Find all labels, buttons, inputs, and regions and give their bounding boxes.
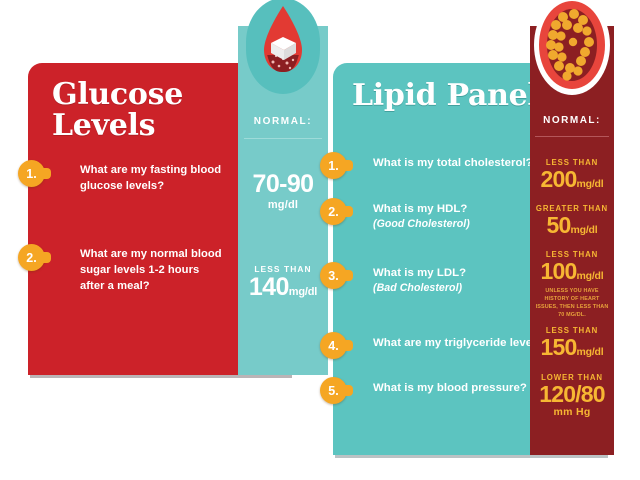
lipid-value-unit-4: mg/dl — [576, 346, 603, 358]
glucose-value-number-1: 70-90 — [238, 172, 328, 198]
artery-cholesterol-plaque-icon — [534, 0, 610, 95]
glucose-value-unit-1: mg/dl — [238, 199, 328, 211]
lipid-value-note-3: UNLESS YOU HAVE HISTORY OF HEART ISSUES,… — [530, 284, 614, 319]
lipid-question-badge-5: 5. — [320, 377, 347, 404]
lipid-question-main-5: What is my blood pressure? — [373, 382, 527, 394]
glucose-value-2: LESS THAN 140mg/dl — [238, 264, 328, 301]
lipid-question-main-3: What is my LDL? — [373, 267, 466, 279]
lipid-normal-label: NORMAL: — [530, 115, 614, 126]
glucose-question-list: 1. What are my fasting blood glucose lev… — [28, 163, 224, 331]
lipid-value-column: NORMAL: LESS THAN 200mg/dl GREATER THAN … — [530, 26, 614, 455]
glucose-divider — [244, 138, 322, 139]
lipid-value-number-3: 100 — [541, 258, 577, 284]
glucose-value-unit-2: mg/dl — [289, 286, 317, 298]
lipid-value-line-2: 50mg/dl — [530, 213, 614, 238]
glucose-question-row: 1. What are my fasting blood glucose lev… — [28, 163, 224, 217]
lipid-value-number-1: 200 — [541, 166, 577, 192]
glucose-question-text-2: What are my normal blood sugar levels 1-… — [80, 247, 222, 295]
lipid-value-line-1: 200mg/dl — [530, 167, 614, 192]
lipid-value-unit-3: mg/dl — [576, 270, 603, 282]
lipid-value-unit-1: mg/dl — [576, 178, 603, 190]
lipid-value-4: LESS THAN 150mg/dl — [530, 326, 614, 360]
lipid-value-1: LESS THAN 200mg/dl — [530, 158, 614, 192]
glucose-question-text-1: What are my fasting blood glucose levels… — [80, 163, 222, 195]
lipid-panel: Lipid Panel 1. What is my total choleste… — [333, 63, 606, 455]
lipid-value-qualifier-2: GREATER THAN — [530, 204, 614, 213]
lipid-value-number-2: 50 — [547, 212, 571, 238]
lipid-question-badge-2: 2. — [320, 198, 347, 225]
glucose-value-1: 70-90 mg/dl — [238, 172, 328, 211]
glucose-value-column: NORMAL: 70-90 mg/dl LESS THAN 140mg/dl — [238, 26, 328, 375]
lipid-value-2: GREATER THAN 50mg/dl — [530, 204, 614, 238]
lipid-value-line-3: 100mg/dl — [530, 259, 614, 284]
lipid-question-badge-1: 1. — [320, 152, 347, 179]
lipid-value-number-4: 150 — [541, 334, 577, 360]
glucose-value-number-2: 140 — [249, 273, 289, 301]
lipid-question-badge-3: 3. — [320, 262, 347, 289]
lipid-panel-title: Lipid Panel — [352, 81, 538, 112]
glucose-levels-panel: Glucose Levels 1. What are my fasting bl… — [28, 63, 290, 375]
glucose-value-line-2: 140mg/dl — [238, 275, 328, 301]
lipid-value-unit-5: mm Hg — [530, 406, 614, 418]
glucose-normal-label: NORMAL: — [238, 116, 328, 127]
lipid-value-unit-2: mg/dl — [570, 224, 597, 236]
glucose-question-badge-1: 1. — [18, 160, 45, 187]
lipid-value-line-4: 150mg/dl — [530, 335, 614, 360]
lipid-question-badge-4: 4. — [320, 332, 347, 359]
glucose-question-badge-2: 2. — [18, 244, 45, 271]
lipid-value-number-5: 120/80 — [530, 382, 614, 406]
lipid-question-main-4: What are my triglyceride levels? — [373, 337, 549, 349]
lipid-value-5: LOWER THAN 120/80 mm Hg — [530, 373, 614, 418]
lipid-value-3: LESS THAN 100mg/dl UNLESS YOU HAVE HISTO… — [530, 250, 614, 319]
lipid-question-main-1: What is my total cholesterol? — [373, 157, 533, 169]
lipid-question-main-2: What is my HDL? — [373, 203, 467, 215]
glucose-question-row: 2. What are my normal blood sugar levels… — [28, 247, 224, 301]
glucose-panel-title: Glucose Levels — [52, 80, 232, 141]
blood-drop-sugar-cube-icon — [246, 0, 320, 94]
lipid-divider — [535, 136, 609, 137]
